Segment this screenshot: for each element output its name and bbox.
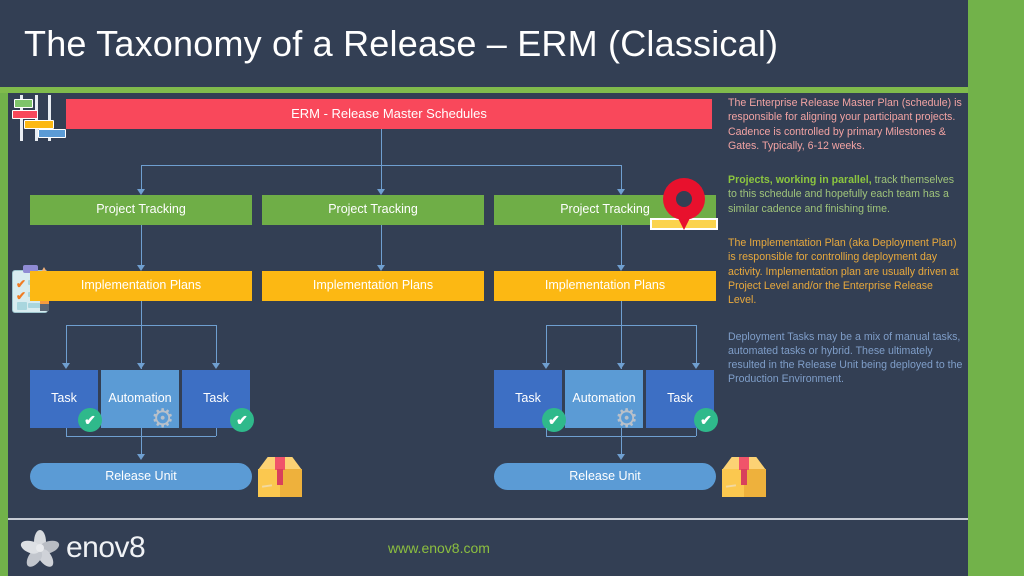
connector-erm-to-pt1 — [141, 165, 142, 191]
arrow-to-release-unit-r — [617, 454, 625, 460]
implementation-plans-box-3[interactable]: Implementation Plans — [494, 271, 716, 301]
gear-icon-r: ⚙ — [615, 405, 638, 431]
arrow-to-task-l1 — [62, 363, 70, 369]
task-label-l1: Task — [51, 392, 77, 406]
arrow-to-release-unit-l — [137, 454, 145, 460]
erm-release-master-schedules-bar[interactable]: ERM - Release Master Schedules — [66, 99, 712, 129]
title-bar: The Taxonomy of a Release – ERM (Classic… — [0, 0, 968, 87]
footer-url[interactable]: www.enov8.com — [388, 540, 490, 556]
slide-root: The Taxonomy of a Release – ERM (Classic… — [0, 0, 1024, 576]
connector-pt3-to-ip3 — [621, 225, 622, 267]
implementation-plans-label-1: Implementation Plans — [81, 279, 201, 293]
task-label-l2: Task — [203, 392, 229, 406]
connector-pt2-to-ip2 — [381, 225, 382, 267]
brand-logo: enov8 — [20, 528, 145, 568]
map-pin-icon — [663, 178, 705, 232]
connector-ip1-left — [66, 325, 67, 365]
connector-ip3-right — [696, 325, 697, 365]
note-tasks: Deployment Tasks may be a mix of manual … — [728, 330, 964, 387]
page-title: The Taxonomy of a Release – ERM (Classic… — [0, 23, 778, 65]
check-mark-icon-l1: ✔ — [78, 408, 102, 432]
arrow-to-task-r2 — [617, 363, 625, 369]
connector-to-release-unit-l — [141, 428, 142, 456]
implementation-plans-label-3: Implementation Plans — [545, 279, 665, 293]
connector-erm-to-pt2 — [381, 165, 382, 191]
package-box-icon-r — [722, 455, 766, 499]
task-label-r2: Task — [667, 392, 693, 406]
connector-task-l1-down — [66, 428, 67, 436]
implementation-plans-label-2: Implementation Plans — [313, 279, 433, 293]
project-tracking-label-3: Project Tracking — [560, 203, 650, 217]
task-label-r1: Task — [515, 392, 541, 406]
connector-ip1-right — [216, 325, 217, 365]
check-mark-icon-l2: ✔ — [230, 408, 254, 432]
check-mark-icon-r2: ✔ — [694, 408, 718, 432]
right-accent-strip — [968, 0, 1024, 576]
project-tracking-label-2: Project Tracking — [328, 203, 418, 217]
connector-erm-to-pt3 — [621, 165, 622, 191]
connector-erm-trunk — [381, 129, 382, 165]
note-projects-lead: Projects, working in parallel, — [728, 174, 872, 186]
project-tracking-label-1: Project Tracking — [96, 203, 186, 217]
project-tracking-box-1[interactable]: Project Tracking — [30, 195, 252, 225]
connector-ip1-bus — [66, 325, 216, 326]
left-accent-strip — [0, 88, 8, 576]
flower-logo-icon — [20, 528, 60, 568]
implementation-plans-box-2[interactable]: Implementation Plans — [262, 271, 484, 301]
connector-pt1-to-ip1 — [141, 225, 142, 267]
connector-ip3-trunk — [621, 301, 622, 369]
arrow-to-task-r3 — [692, 363, 700, 369]
connector-to-release-unit-r — [621, 428, 622, 456]
note-erm: The Enterprise Release Master Plan (sche… — [728, 96, 964, 153]
release-unit-pill-r[interactable]: Release Unit — [494, 463, 716, 490]
package-box-icon-l — [258, 455, 302, 499]
note-implementation: The Implementation Plan (aka Deployment … — [728, 236, 964, 307]
connector-task-r3-down — [696, 428, 697, 436]
release-unit-label-r: Release Unit — [569, 470, 641, 484]
gear-icon-l: ⚙ — [151, 405, 174, 431]
release-unit-label-l: Release Unit — [105, 470, 177, 484]
gantt-chart-icon — [10, 95, 62, 141]
implementation-plans-box-1[interactable]: Implementation Plans — [30, 271, 252, 301]
notes-column: The Enterprise Release Master Plan (sche… — [728, 96, 964, 387]
connector-ip3-left — [546, 325, 547, 365]
note-projects: Projects, working in parallel, track the… — [728, 173, 964, 216]
arrow-to-task-r1 — [542, 363, 550, 369]
connector-ip3-bus — [546, 325, 696, 326]
brand-name: enov8 — [66, 531, 145, 565]
arrow-to-task-l3 — [212, 363, 220, 369]
diagram-canvas: ERM - Release Master Schedules Project T… — [8, 93, 720, 518]
footer-bar: enov8 www.enov8.com — [0, 520, 968, 576]
project-tracking-box-2[interactable]: Project Tracking — [262, 195, 484, 225]
arrow-to-task-l2 — [137, 363, 145, 369]
release-unit-pill-l[interactable]: Release Unit — [30, 463, 252, 490]
connector-ip1-trunk — [141, 301, 142, 369]
erm-bar-label: ERM - Release Master Schedules — [291, 107, 487, 121]
connector-task-l3-down — [216, 428, 217, 436]
connector-task-r1-down — [546, 428, 547, 436]
